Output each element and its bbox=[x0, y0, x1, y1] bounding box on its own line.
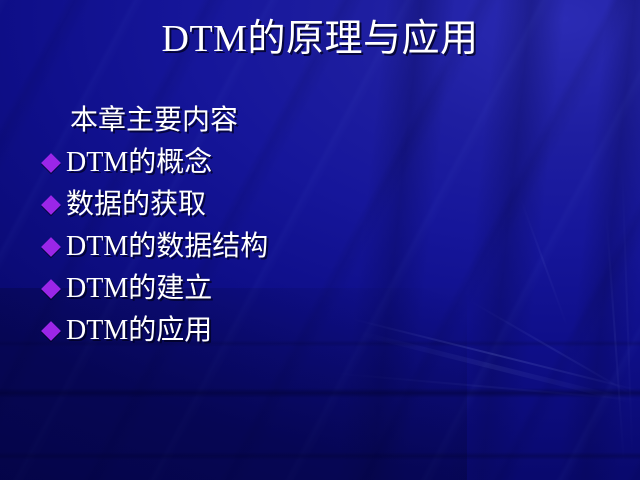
list-item: DTM的建立 bbox=[44, 268, 604, 310]
presentation-slide: DTM的原理与应用 本章主要内容 DTM的概念 数据的获取 DTM的数据结构 D… bbox=[0, 0, 640, 480]
slide-content: DTM的原理与应用 本章主要内容 DTM的概念 数据的获取 DTM的数据结构 D… bbox=[0, 0, 640, 480]
diamond-bullet-icon bbox=[41, 321, 61, 341]
diamond-bullet-icon bbox=[45, 111, 65, 131]
diamond-bullet-icon bbox=[41, 237, 61, 257]
list-item-label: DTM的数据结构 bbox=[66, 226, 268, 268]
list-item-label: DTM的建立 bbox=[66, 268, 212, 310]
list-item-label: 本章主要内容 bbox=[70, 100, 238, 142]
slide-bullet-list: 本章主要内容 DTM的概念 数据的获取 DTM的数据结构 DTM的建立 DTM的 bbox=[44, 100, 604, 352]
list-item: DTM的概念 bbox=[44, 142, 604, 184]
list-item: 本章主要内容 bbox=[44, 100, 604, 142]
slide-title: DTM的原理与应用 bbox=[0, 16, 640, 62]
diamond-bullet-icon bbox=[41, 195, 61, 215]
list-item: DTM的应用 bbox=[44, 310, 604, 352]
list-item: DTM的数据结构 bbox=[44, 226, 604, 268]
diamond-bullet-icon bbox=[41, 153, 61, 173]
list-item-label: 数据的获取 bbox=[66, 184, 206, 226]
diamond-bullet-icon bbox=[41, 279, 61, 299]
list-item-label: DTM的概念 bbox=[66, 142, 212, 184]
list-item-label: DTM的应用 bbox=[66, 310, 212, 352]
list-item: 数据的获取 bbox=[44, 184, 604, 226]
